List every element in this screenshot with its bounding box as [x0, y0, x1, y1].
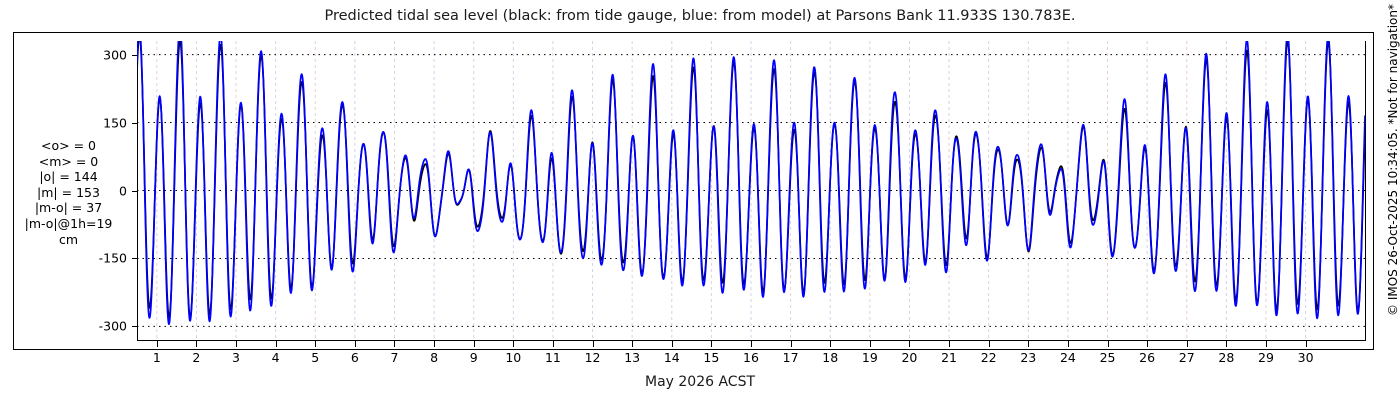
plot-area — [137, 41, 1365, 340]
stat-mean-model: <m> = 0 — [6, 154, 131, 170]
stat-abs-model: |m| = 153 — [6, 185, 131, 201]
tidal-series-svg — [137, 41, 1365, 340]
x-axis-tick-label: 3 — [232, 350, 240, 365]
copyright-text: © IMOS 26-Oct-2025 10:34:05. *Not for na… — [1386, 4, 1400, 396]
stat-abs-observed: |o| = 144 — [6, 169, 131, 185]
x-axis-tick-label: 14 — [664, 350, 680, 365]
x-axis-tick-mark — [276, 340, 277, 347]
x-axis-tick-mark — [870, 340, 871, 347]
x-axis-tick-mark — [236, 340, 237, 347]
x-axis-tick-mark — [989, 340, 990, 347]
x-axis-tick-mark — [1266, 340, 1267, 347]
x-axis-tick-label: 7 — [390, 350, 398, 365]
stat-units: cm — [6, 232, 131, 248]
x-axis-tick-mark — [1028, 340, 1029, 347]
x-axis-tick-mark — [1226, 340, 1227, 347]
y-axis-tick-label: 300 — [103, 47, 132, 62]
x-axis-tick-mark — [711, 340, 712, 347]
x-axis-tick-label: 24 — [1060, 350, 1076, 365]
plot-right-edge — [1365, 41, 1366, 340]
chart-title: Predicted tidal sea level (black: from t… — [0, 8, 1400, 24]
y-axis-tick-label: 150 — [103, 115, 132, 130]
y-axis-tick-label: -300 — [99, 319, 132, 334]
x-axis-tick-label: 6 — [351, 350, 359, 365]
x-axis-tick-label: 27 — [1179, 350, 1195, 365]
x-axis-tick-label: 18 — [822, 350, 838, 365]
statistics-block: <o> = 0 <m> = 0 |o| = 144 |m| = 153 |m-o… — [6, 138, 131, 247]
x-axis-tick-mark — [315, 340, 316, 347]
x-axis-tick-mark — [1306, 340, 1307, 347]
x-axis-tick-label: 13 — [624, 350, 640, 365]
x-axis-tick-mark — [553, 340, 554, 347]
x-axis-tick-mark — [672, 340, 673, 347]
x-axis-tick-label: 29 — [1258, 350, 1274, 365]
y-axis-tick-label: 0 — [119, 183, 132, 198]
x-axis-tick-label: 16 — [743, 350, 759, 365]
x-axis-tick-label: 28 — [1218, 350, 1234, 365]
x-axis-tick-label: 10 — [505, 350, 521, 365]
x-axis-tick-label: 12 — [585, 350, 601, 365]
tidal-chart-figure: Predicted tidal sea level (black: from t… — [0, 0, 1400, 400]
x-axis-tick-mark — [593, 340, 594, 347]
x-axis-tick-label: 21 — [941, 350, 957, 365]
x-axis-tick-mark — [394, 340, 395, 347]
x-axis-tick-label: 2 — [192, 350, 200, 365]
stat-mean-observed: <o> = 0 — [6, 138, 131, 154]
y-axis-tick-label: -150 — [99, 251, 132, 266]
x-axis-tick-label: 11 — [545, 350, 561, 365]
x-axis-tick-mark — [1068, 340, 1069, 347]
x-axis-tick-label: 22 — [981, 350, 997, 365]
x-axis-tick-label: 26 — [1139, 350, 1155, 365]
x-axis-tick-mark — [830, 340, 831, 347]
x-axis-tick-label: 19 — [862, 350, 878, 365]
x-axis-tick-label: 5 — [311, 350, 319, 365]
x-axis-tick-mark — [474, 340, 475, 347]
x-axis-tick-mark — [1187, 340, 1188, 347]
x-axis-tick-mark — [791, 340, 792, 347]
x-axis-tick-label: 20 — [901, 350, 917, 365]
x-axis-tick-label: 8 — [430, 350, 438, 365]
x-axis-tick-label: 15 — [703, 350, 719, 365]
x-axis-tick-mark — [196, 340, 197, 347]
x-axis-tick-mark — [751, 340, 752, 347]
stat-abs-difference: |m-o| = 37 — [6, 200, 131, 216]
x-axis-tick-label: 1 — [153, 350, 161, 365]
x-axis-title: May 2026 ACST — [0, 374, 1400, 390]
x-axis-tick-mark — [434, 340, 435, 347]
x-axis-tick-label: 17 — [783, 350, 799, 365]
copyright-credit: © IMOS 26-Oct-2025 10:34:05. *Not for na… — [1380, 0, 1400, 400]
x-axis-tick-mark — [949, 340, 950, 347]
x-axis-tick-label: 4 — [272, 350, 280, 365]
x-axis-tick-label: 25 — [1100, 350, 1116, 365]
x-axis-tick-mark — [632, 340, 633, 347]
x-axis-tick-mark — [1108, 340, 1109, 347]
x-axis-tick-label: 9 — [470, 350, 478, 365]
stat-abs-difference-1h: |m-o|@1h=19 — [6, 216, 131, 232]
x-axis-tick-label: 23 — [1020, 350, 1036, 365]
x-axis-tick-mark — [513, 340, 514, 347]
x-axis-tick-mark — [1147, 340, 1148, 347]
x-axis-tick-mark — [355, 340, 356, 347]
x-axis-tick-mark — [157, 340, 158, 347]
x-axis-tick-label: 30 — [1298, 350, 1314, 365]
x-axis-tick-mark — [909, 340, 910, 347]
